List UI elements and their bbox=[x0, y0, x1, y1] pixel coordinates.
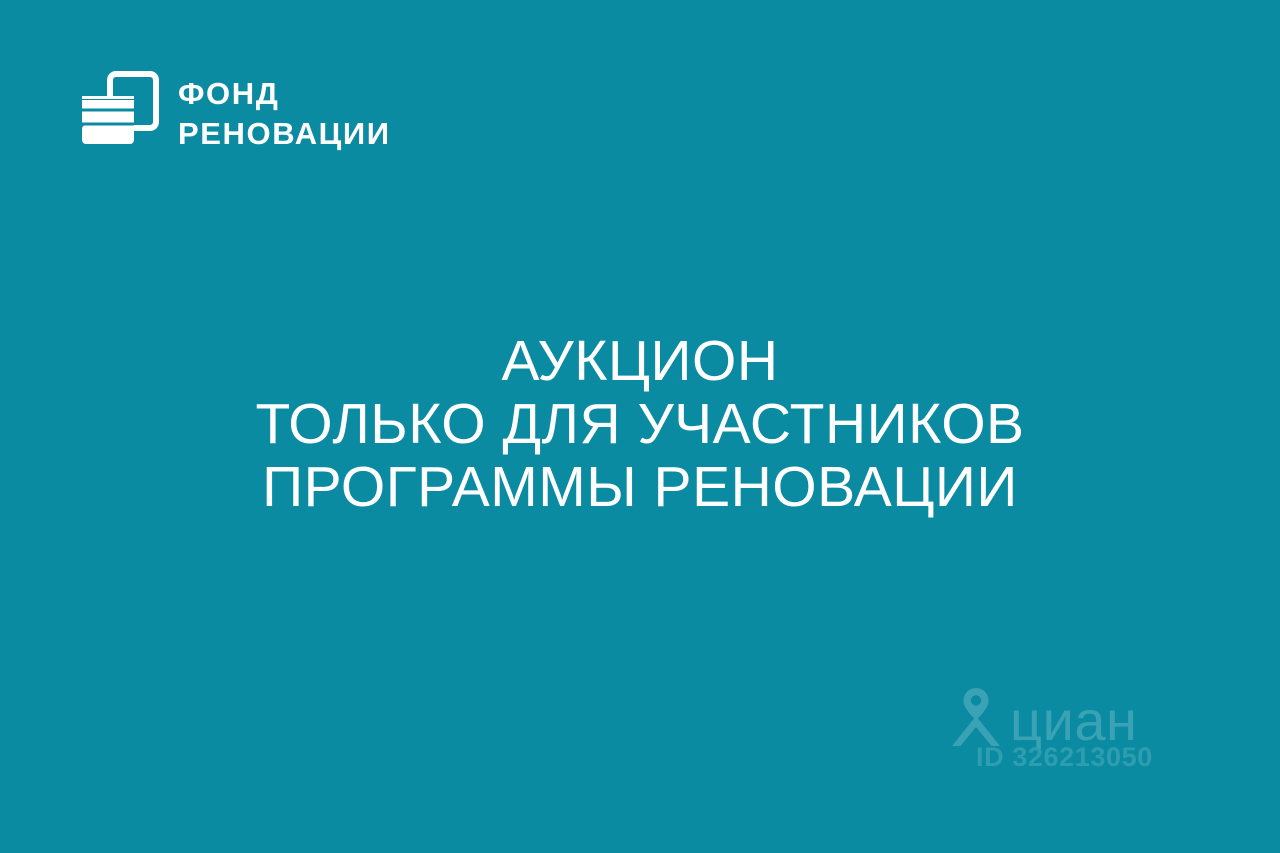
cian-watermark: циан ID 326213050 bbox=[950, 686, 1190, 786]
brand-lockup: ФОНД РЕНОВАЦИИ bbox=[82, 70, 391, 156]
headline-line-3: ПРОГРАММЫ РЕНОВАЦИИ bbox=[0, 456, 1280, 519]
fond-renovacii-logo-icon bbox=[82, 70, 160, 156]
cian-wordmark: циан bbox=[1010, 693, 1137, 749]
cian-pin-logo-icon bbox=[950, 686, 1002, 748]
brand-wordmark: ФОНД РЕНОВАЦИИ bbox=[178, 78, 391, 149]
brand-line-2: РЕНОВАЦИИ bbox=[178, 118, 391, 149]
headline: АУКЦИОН ТОЛЬКО ДЛЯ УЧАСТНИКОВ ПРОГРАММЫ … bbox=[0, 330, 1280, 519]
headline-line-1: АУКЦИОН bbox=[0, 330, 1280, 393]
cian-logo-row: циан bbox=[950, 686, 1190, 748]
listing-id: ID 326213050 bbox=[976, 742, 1216, 773]
auction-banner: ФОНД РЕНОВАЦИИ АУКЦИОН ТОЛЬКО ДЛЯ УЧАСТН… bbox=[0, 0, 1280, 853]
brand-line-1: ФОНД bbox=[178, 78, 391, 109]
headline-line-2: ТОЛЬКО ДЛЯ УЧАСТНИКОВ bbox=[0, 393, 1280, 456]
